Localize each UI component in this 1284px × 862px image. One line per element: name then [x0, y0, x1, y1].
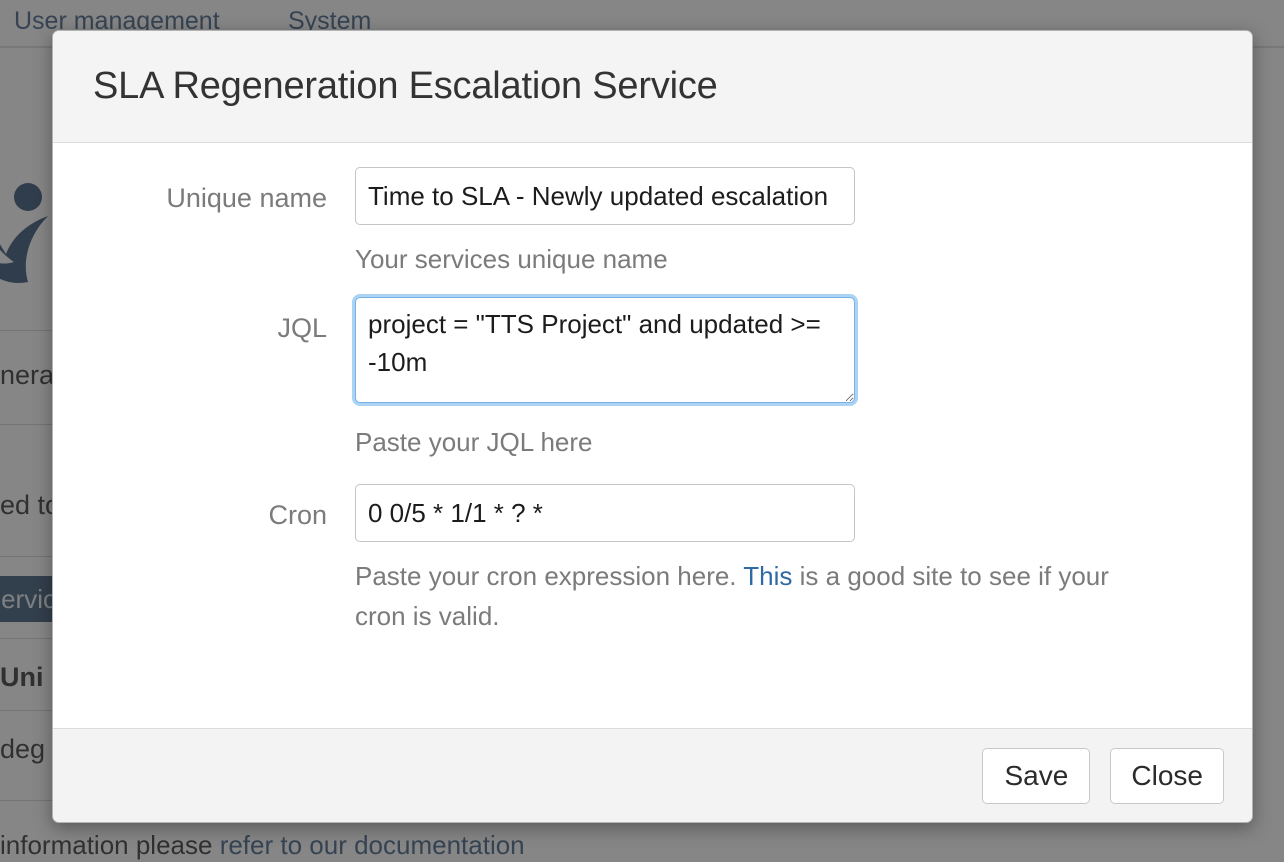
jql-control: project = "TTS Project" and updated >= -… [355, 297, 1252, 462]
cron-input[interactable] [355, 484, 855, 542]
cron-help-prefix: Paste your cron expression here. [355, 561, 743, 591]
form-row-cron: Cron Paste your cron expression here. Th… [53, 484, 1252, 636]
jql-help: Paste your JQL here [355, 422, 1145, 462]
cron-help: Paste your cron expression here. This is… [355, 556, 1145, 636]
modal-title: SLA Regeneration Escalation Service [93, 65, 718, 108]
cron-site-link[interactable]: This [743, 561, 792, 591]
jql-label: JQL [53, 297, 355, 344]
unique-name-label: Unique name [53, 167, 355, 214]
form-row-unique-name: Unique name Your services unique name [53, 167, 1252, 279]
form-row-jql: JQL project = "TTS Project" and updated … [53, 297, 1252, 462]
sla-service-modal: SLA Regeneration Escalation Service Uniq… [52, 30, 1253, 823]
unique-name-help: Your services unique name [355, 239, 1145, 279]
modal-header: SLA Regeneration Escalation Service [53, 31, 1252, 143]
close-button[interactable]: Close [1110, 748, 1224, 804]
cron-control: Paste your cron expression here. This is… [355, 484, 1252, 636]
jql-textarea[interactable]: project = "TTS Project" and updated >= -… [355, 297, 855, 403]
modal-footer: Save Close [53, 728, 1252, 822]
cron-label: Cron [53, 484, 355, 531]
modal-body: Unique name Your services unique name JQ… [53, 143, 1252, 728]
unique-name-control: Your services unique name [355, 167, 1252, 279]
save-button[interactable]: Save [982, 748, 1090, 804]
unique-name-input[interactable] [355, 167, 855, 225]
